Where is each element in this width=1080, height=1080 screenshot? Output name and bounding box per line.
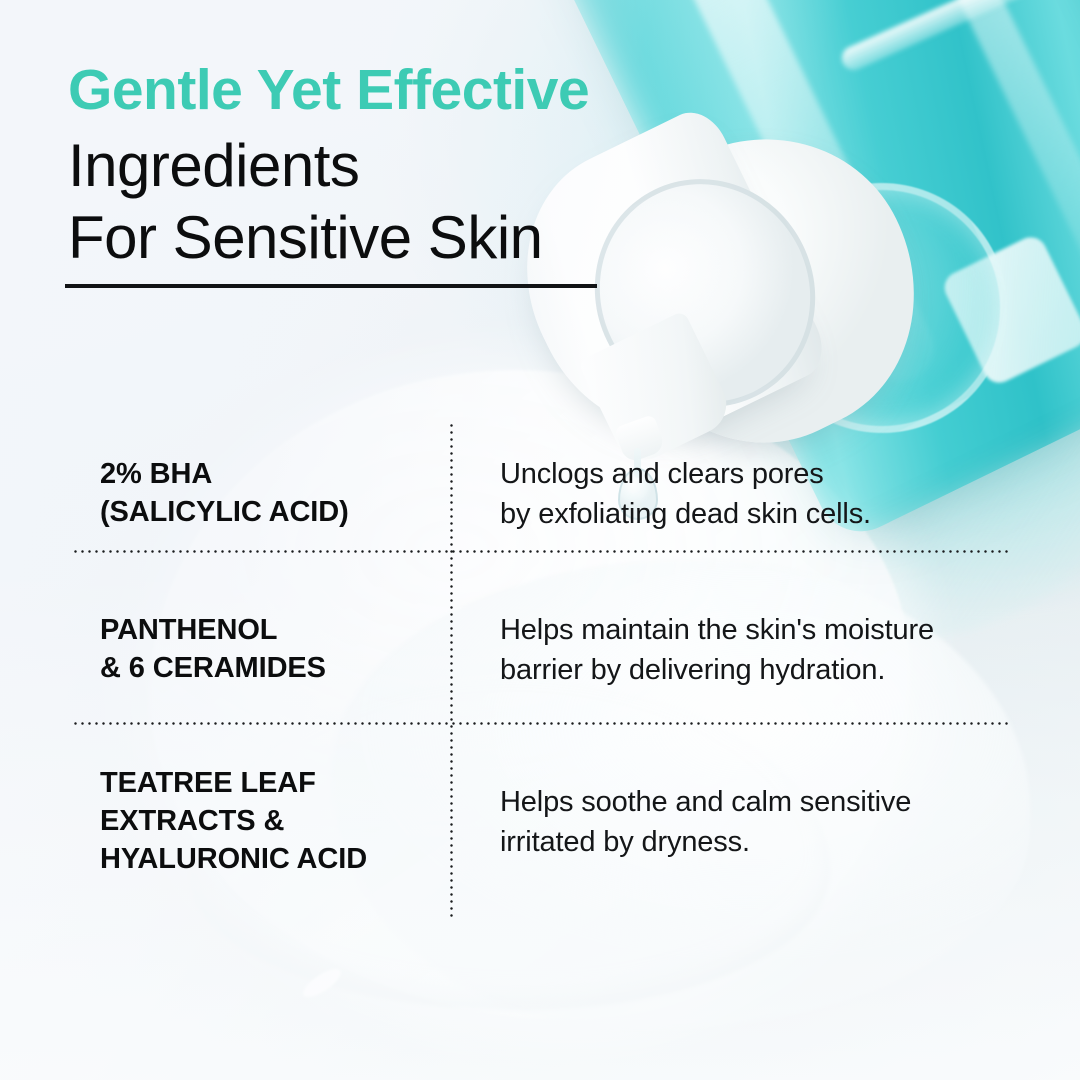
ingredient-benefit: Helps soothe and calm sensitive irritate… — [500, 782, 1010, 862]
ingredients-table: 2% BHA (SALICYLIC ACID) Unclogs and clea… — [72, 422, 1010, 918]
headline-block: Gentle Yet Effective Ingredients For Sen… — [68, 62, 708, 268]
table-row: 2% BHA (SALICYLIC ACID) Unclogs and clea… — [72, 422, 1010, 566]
headline-line-1: Gentle Yet Effective — [68, 62, 708, 119]
headline-line-3: For Sensitive Skin — [68, 208, 708, 268]
ingredient-name: TEATREE LEAF EXTRACTS & HYALURONIC ACID — [100, 765, 428, 878]
ingredient-name-cell: 2% BHA (SALICYLIC ACID) — [72, 422, 450, 566]
ingredient-name-cell: TEATREE LEAF EXTRACTS & HYALURONIC ACID — [72, 742, 450, 902]
ingredient-benefit-cell: Helps soothe and calm sensitive irritate… — [450, 742, 1010, 902]
table-row: PANTHENOL & 6 CERAMIDES Helps maintain t… — [72, 578, 1010, 722]
ingredient-infographic: Gentle Yet Effective Ingredients For Sen… — [0, 0, 1080, 1080]
ingredient-name: 2% BHA (SALICYLIC ACID) — [100, 456, 428, 531]
ingredient-name-cell: PANTHENOL & 6 CERAMIDES — [72, 578, 450, 722]
ingredient-benefit-cell: Unclogs and clears pores by exfoliating … — [450, 422, 1010, 566]
headline-line-2: Ingredients — [68, 136, 708, 196]
table-row: TEATREE LEAF EXTRACTS & HYALURONIC ACID … — [72, 742, 1010, 902]
ingredient-benefit: Unclogs and clears pores by exfoliating … — [500, 454, 1010, 534]
row-divider-2 — [72, 722, 1010, 725]
ingredient-benefit-cell: Helps maintain the skin's moisture barri… — [450, 578, 1010, 722]
ingredient-name: PANTHENOL & 6 CERAMIDES — [100, 612, 428, 687]
row-divider-1 — [72, 550, 1010, 553]
content-layer: Gentle Yet Effective Ingredients For Sen… — [0, 0, 1080, 1080]
ingredient-benefit: Helps maintain the skin's moisture barri… — [500, 610, 1010, 690]
column-divider — [450, 422, 453, 918]
headline-underline — [65, 284, 597, 288]
